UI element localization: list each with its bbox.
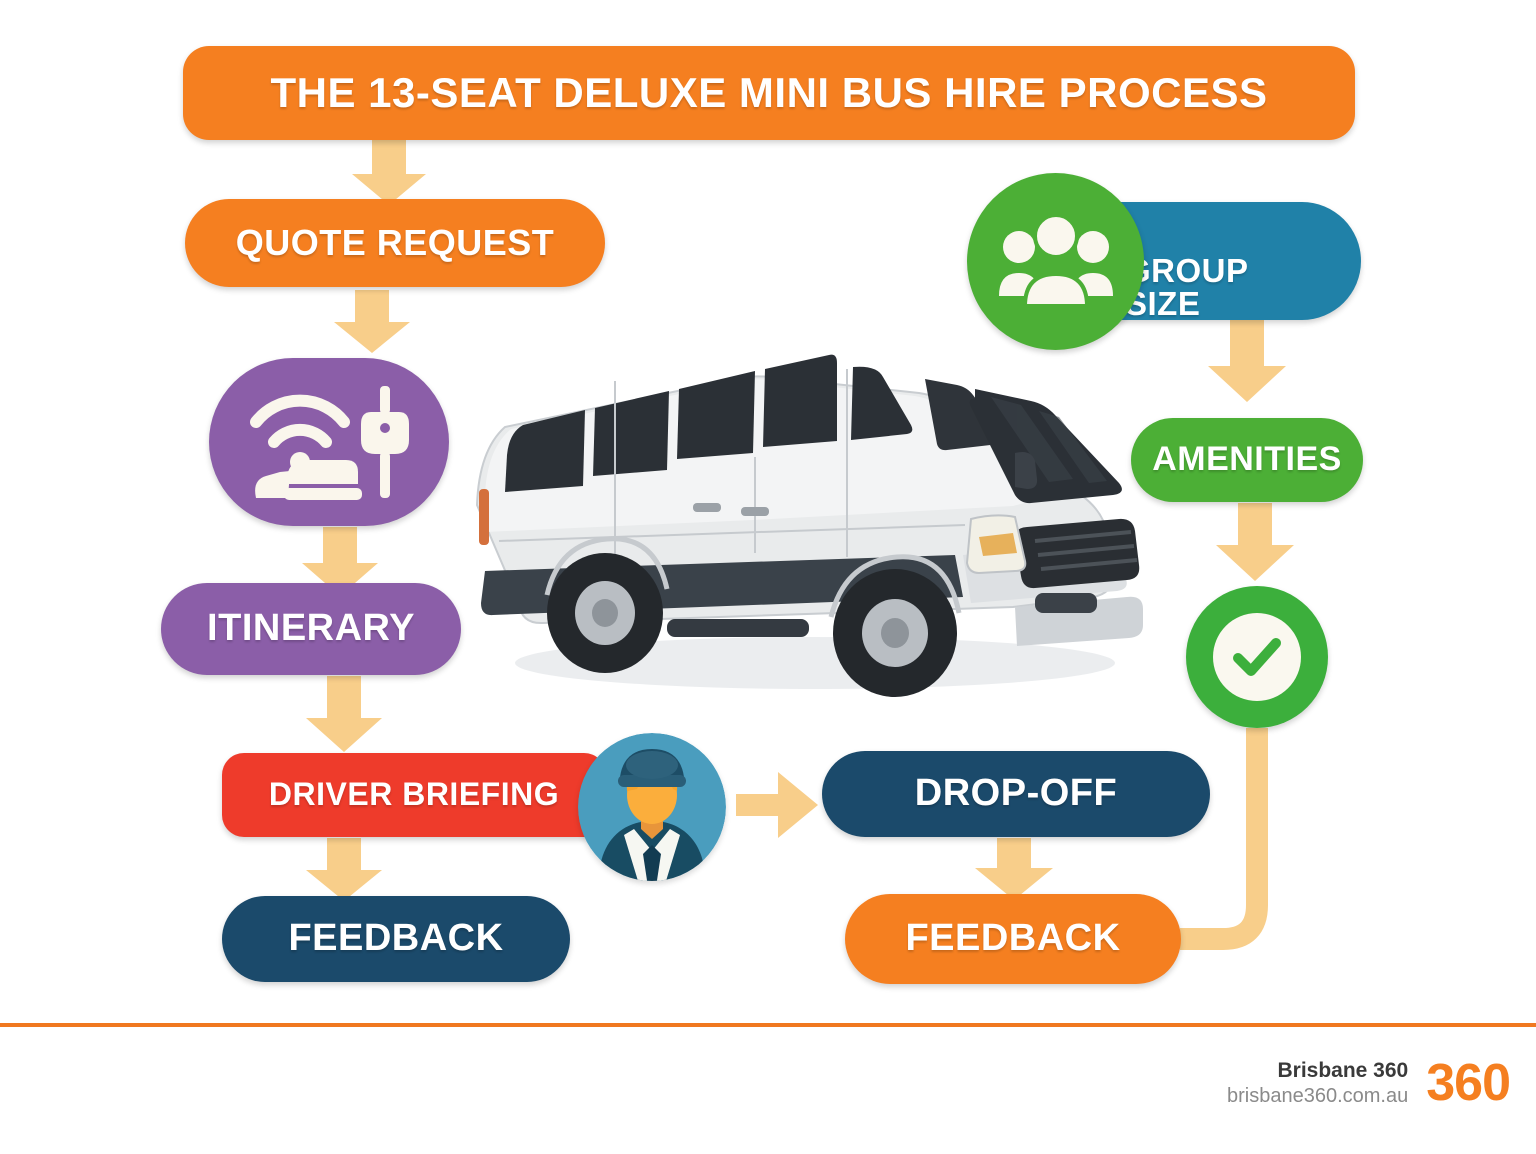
node-feedback-right[interactable]: FEEDBACK	[845, 894, 1181, 984]
infographic-canvas: .ar{fill:#F8CE8A;}	[0, 0, 1536, 1154]
page-title: THE 13-SEAT DELUXE MINI BUS HIRE PROCESS	[183, 46, 1355, 140]
node-amenities[interactable]: AMENITIES	[1131, 418, 1363, 502]
arrow-amenities-to-confirmation	[1216, 503, 1294, 581]
minibus-illustration	[455, 345, 1145, 705]
footer: Brisbane 360 brisbane360.com.au 360	[1227, 1058, 1510, 1109]
driver-avatar[interactable]	[578, 733, 726, 881]
arrow-driver-briefing-to-feedback	[306, 838, 382, 901]
arrow-quote-to-amenities-icon	[334, 290, 410, 353]
brand-url[interactable]: brisbane360.com.au	[1227, 1084, 1408, 1109]
group-size-icon-badge[interactable]	[967, 173, 1144, 350]
driver-avatar-icon	[578, 733, 726, 881]
footer-text-block: Brisbane 360 brisbane360.com.au	[1227, 1058, 1408, 1109]
people-group-icon	[995, 214, 1117, 310]
rear-wheel	[547, 553, 663, 673]
arrow-groupsize-to-amenities	[1208, 320, 1286, 402]
node-feedback-left[interactable]: FEEDBACK	[222, 896, 570, 982]
brand-logo: 360	[1426, 1060, 1510, 1108]
node-amenity-icons[interactable]	[209, 358, 449, 526]
node-confirmation[interactable]	[1186, 586, 1328, 728]
front-wheel	[833, 569, 957, 697]
arrow-dropoff-to-feedback-right	[975, 838, 1053, 900]
node-driver-briefing[interactable]: DRIVER BRIEFING	[222, 753, 606, 837]
node-quote-request[interactable]: QUOTE REQUEST	[185, 199, 605, 287]
check-circle-inner	[1213, 613, 1301, 701]
brand-name: Brisbane 360	[1227, 1058, 1408, 1084]
arrow-driver-to-dropoff	[736, 772, 818, 838]
group-size-label-line1: GROUP	[1125, 254, 1321, 287]
check-icon	[1228, 628, 1286, 686]
charging-plug-icon	[361, 386, 409, 498]
footer-divider	[0, 1023, 1536, 1027]
arrow-itinerary-to-driver-briefing	[306, 676, 382, 752]
amenity-icon-group	[234, 382, 424, 502]
group-size-label-wrap: GROUP SIZE	[1125, 254, 1321, 320]
arrow-title-to-quote	[352, 140, 426, 205]
node-drop-off[interactable]: DROP-OFF	[822, 751, 1210, 837]
wifi-icon	[256, 401, 344, 442]
reclining-seat-icon	[255, 460, 362, 500]
group-size-label-line2: SIZE	[1125, 287, 1321, 320]
node-itinerary[interactable]: ITINERARY	[161, 583, 461, 675]
